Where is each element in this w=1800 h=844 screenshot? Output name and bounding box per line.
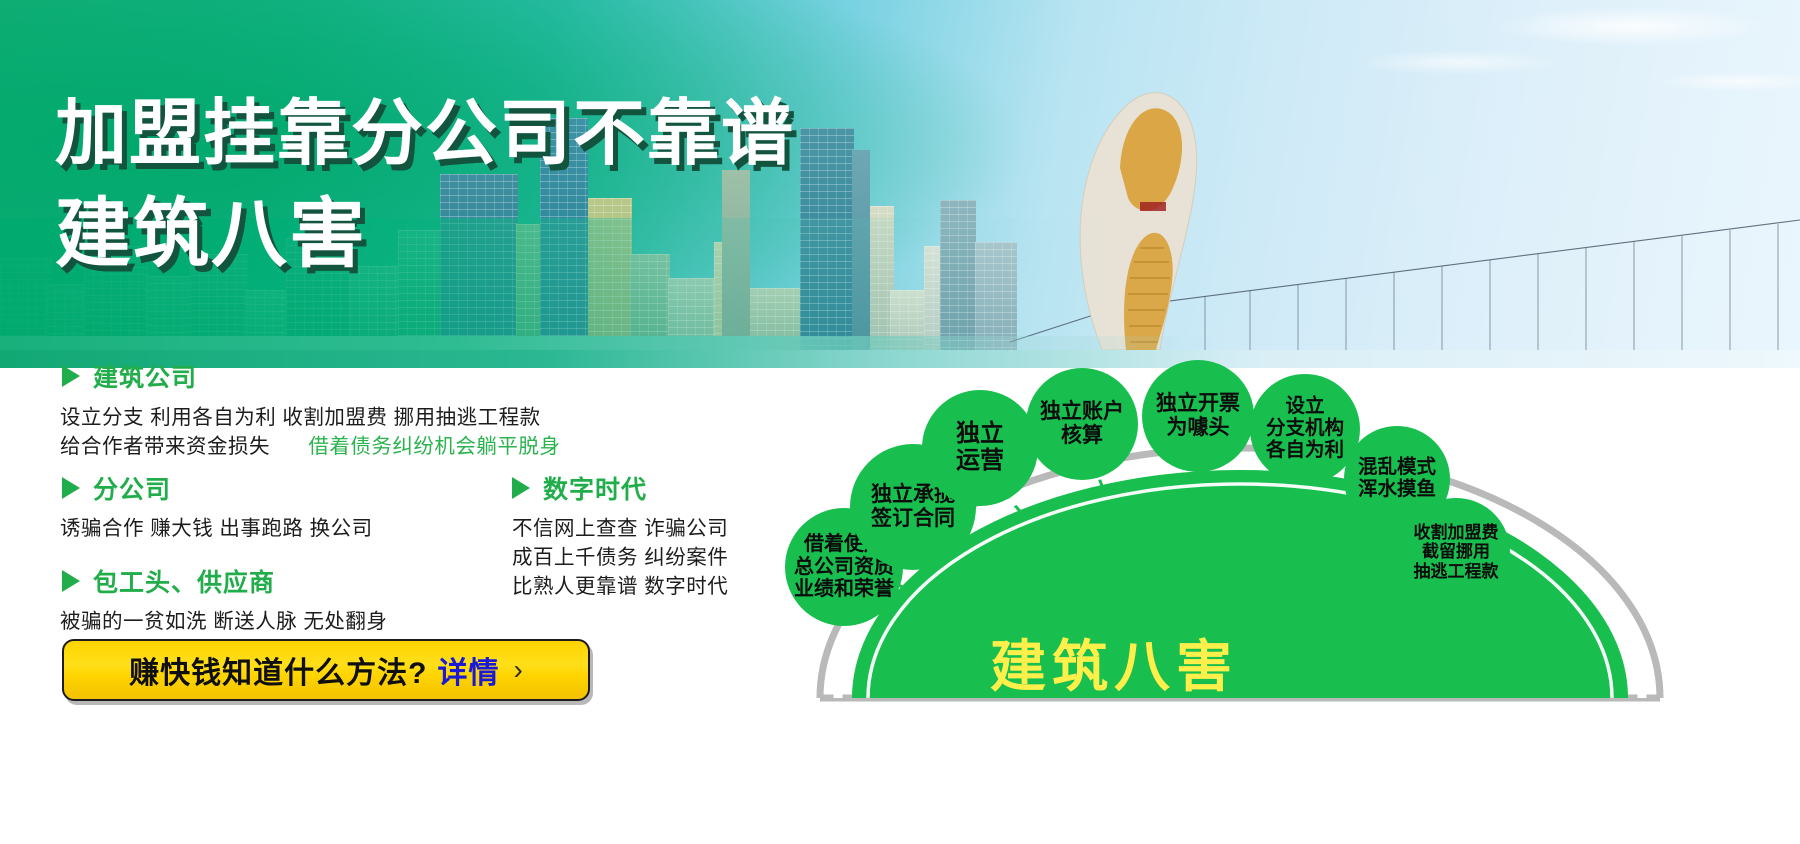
section-title: 建筑公司 [93, 358, 197, 394]
section-line-text: 给合作者带来资金损失 [60, 435, 270, 458]
banner-title-line1: 加盟挂靠分公司不靠谱 [55, 74, 795, 179]
poster-root: 加盟挂靠分公司不靠谱 建筑八害 建筑公司 设立分支 利用各自为利 收割加盟费 挪… [0, 0, 1800, 844]
bubble-franchise-fee[interactable]: 收割加盟费 截留挪用 抽逃工程款 [1402, 498, 1510, 606]
triangle-right-icon [62, 570, 80, 592]
bubble-branch-setup[interactable]: 设立 分支机构 各自为利 [1250, 374, 1360, 484]
section-line: 不信网上查查 诈骗公司 [512, 511, 728, 541]
section-line: 诱骗合作 赚大钱 出事跑路 换公司 [60, 511, 373, 541]
cta-button[interactable]: 赚快钱知道什么方法? 详情 › [62, 639, 590, 701]
section-line-highlight: 借着债务纠纷机会躺平脱身 [308, 435, 560, 458]
cta-detail-link[interactable]: 详情 [438, 648, 500, 692]
bubble-independent-invoicing[interactable]: 独立开票 为噱头 [1142, 360, 1254, 472]
hero-banner: 加盟挂靠分公司不靠谱 建筑八害 [0, 0, 1800, 368]
section-line: 给合作者带来资金损失 借着债务纠纷机会躺平脱身 [60, 429, 560, 459]
section-line: 设立分支 利用各自为利 收割加盟费 挪用抽逃工程款 [60, 400, 541, 430]
cta-question: 赚快钱知道什么方法? [129, 648, 427, 692]
section-header-branch-company: 分公司 [62, 470, 171, 506]
triangle-right-icon [62, 365, 80, 387]
section-title: 包工头、供应商 [93, 563, 275, 599]
section-header-contractor-supplier: 包工头、供应商 [62, 563, 275, 599]
section-line: 比熟人更靠谱 数字时代 [512, 569, 728, 599]
bubble-independent-account[interactable]: 独立账户 核算 [1026, 368, 1138, 480]
section-line-text: 设立分支 利用各自为利 收割加盟费 挪用抽逃工程款 [60, 406, 541, 429]
section-line-text: 被骗的一贫如洗 断送人脉 无处翻身 [60, 610, 387, 633]
bajiuhai-diagram: 借着使用 总公司资质 业绩和荣誉 独立承揽 签订合同 独立 运营 独立账户 核算… [790, 368, 1800, 844]
section-line-text: 诱骗合作 赚大钱 出事跑路 换公司 [60, 517, 373, 540]
section-header-digital-era: 数字时代 [512, 470, 647, 506]
chevron-right-icon: › [514, 654, 523, 686]
section-title: 数字时代 [543, 470, 647, 506]
banner-base-band [0, 350, 1800, 368]
bubble-independent-operation[interactable]: 独立 运营 [922, 390, 1038, 506]
section-line: 成百上千债务 纠纷案件 [512, 540, 728, 570]
left-content: 建筑公司 设立分支 利用各自为利 收割加盟费 挪用抽逃工程款 给合作者带来资金损… [0, 368, 790, 844]
section-header-construction-company: 建筑公司 [62, 358, 197, 394]
triangle-right-icon [62, 477, 80, 499]
section-line-text: 成百上千债务 纠纷案件 [512, 546, 728, 569]
section-line-text: 不信网上查查 诈骗公司 [512, 517, 728, 540]
triangle-right-icon [512, 477, 530, 499]
section-title: 分公司 [93, 470, 171, 506]
section-line-text: 比熟人更靠谱 数字时代 [512, 575, 728, 598]
dome-label: 建筑八害 [990, 622, 1238, 703]
banner-title-line2: 建筑八害 [55, 172, 367, 282]
section-line: 被骗的一贫如洗 断送人脉 无处翻身 [60, 604, 387, 634]
